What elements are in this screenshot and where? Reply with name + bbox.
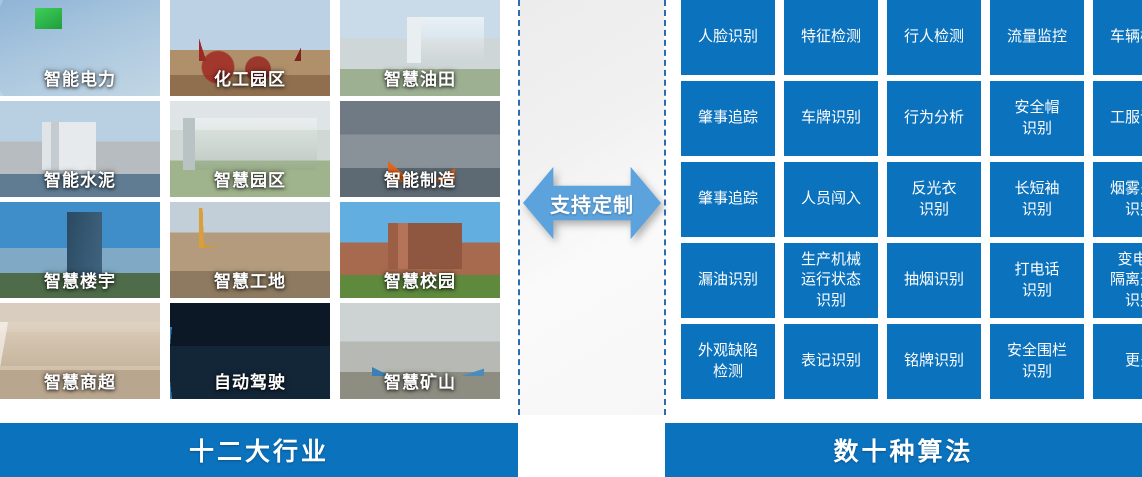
industry-tile-label: 智慧校园 — [340, 273, 500, 292]
algorithm-cell[interactable]: 车辆检测 — [1093, 0, 1142, 75]
industry-tile-label: 智能制造 — [340, 172, 500, 191]
center-panel: 支持定制 — [520, 0, 664, 415]
algorithm-cell[interactable]: 人员闯入 — [784, 162, 878, 237]
algorithm-cell[interactable]: 表记识别 — [784, 324, 878, 399]
industry-tile[interactable]: 智慧矿山 — [340, 303, 500, 399]
algorithm-cell[interactable]: 人脸识别 — [681, 0, 775, 75]
industry-tile-label: 自动驾驶 — [170, 374, 330, 393]
algorithm-cell[interactable]: 安全帽 识别 — [990, 81, 1084, 156]
industry-tile[interactable]: 智慧商超 — [0, 303, 160, 399]
industry-tile-label: 智慧商超 — [0, 374, 160, 393]
industry-tile[interactable]: 自动驾驶 — [170, 303, 330, 399]
industry-tile-label: 智能水泥 — [0, 172, 160, 191]
industry-tile-label: 智慧园区 — [170, 172, 330, 191]
algorithm-cell[interactable]: 反光衣 识别 — [887, 162, 981, 237]
algorithm-cell[interactable]: 工服识别 — [1093, 81, 1142, 156]
industry-tile-label: 智慧楼宇 — [0, 273, 160, 292]
algorithm-cell[interactable]: 安全围栏 识别 — [990, 324, 1084, 399]
industry-tile-label: 智慧工地 — [170, 273, 330, 292]
industry-tile[interactable]: 智慧校园 — [340, 202, 500, 298]
industries-banner: 十二大行业 — [0, 423, 518, 477]
industry-tile[interactable]: 智能水泥 — [0, 101, 160, 197]
algorithm-cell[interactable]: 生产机械 运行状态 识别 — [784, 243, 878, 318]
algorithm-cell[interactable]: 外观缺陷 检测 — [681, 324, 775, 399]
algorithm-cell[interactable]: 行为分析 — [887, 81, 981, 156]
algorithm-cell[interactable]: 肇事追踪 — [681, 162, 775, 237]
algorithm-cell[interactable]: 烟雾火焰 识别 — [1093, 162, 1142, 237]
divider-dashed-right — [664, 0, 666, 415]
algorithm-cell[interactable]: 漏油识别 — [681, 243, 775, 318]
industry-tile[interactable]: 化工园区 — [170, 0, 330, 96]
algorithms-banner: 数十种算法 — [665, 423, 1142, 477]
infographic-root: 智能电力 化工园区 智慧油田 智能水泥 智慧园区 智能制造 — [0, 0, 1142, 477]
arrow-label: 支持定制 — [550, 189, 634, 218]
algorithm-cell[interactable]: 打电话 识别 — [990, 243, 1084, 318]
industry-tile-label: 智慧油田 — [340, 71, 500, 90]
arrow-shape: 支持定制 — [523, 160, 661, 246]
algorithm-cell[interactable]: 长短袖 识别 — [990, 162, 1084, 237]
double-headed-arrow-icon: 支持定制 — [523, 160, 661, 246]
algorithm-cell[interactable]: 流量监控 — [990, 0, 1084, 75]
algorithm-panel: 人脸识别 特征检测 行人检测 流量监控 车辆检测 肇事追踪 车牌识别 行为分析 … — [681, 0, 1142, 415]
industry-tile[interactable]: 智慧工地 — [170, 202, 330, 298]
industry-tile[interactable]: 智慧油田 — [340, 0, 500, 96]
industry-tile[interactable]: 智能制造 — [340, 101, 500, 197]
algorithm-cell[interactable]: 变电站 隔离开关 识别 — [1093, 243, 1142, 318]
industry-tile[interactable]: 智慧楼宇 — [0, 202, 160, 298]
industry-tile[interactable]: 智慧园区 — [170, 101, 330, 197]
industry-tile[interactable]: 智能电力 — [0, 0, 160, 96]
divider-dashed-left — [518, 0, 520, 415]
algorithm-cell[interactable]: 肇事追踪 — [681, 81, 775, 156]
algorithm-cell[interactable]: 抽烟识别 — [887, 243, 981, 318]
algorithm-cell[interactable]: 铭牌识别 — [887, 324, 981, 399]
algorithm-grid: 人脸识别 特征检测 行人检测 流量监控 车辆检测 肇事追踪 车牌识别 行为分析 … — [681, 0, 1142, 399]
algorithm-cell[interactable]: 车牌识别 — [784, 81, 878, 156]
industry-tile-label: 化工园区 — [170, 71, 330, 90]
industry-tile-label: 智慧矿山 — [340, 374, 500, 393]
industry-panel: 智能电力 化工园区 智慧油田 智能水泥 智慧园区 智能制造 — [0, 0, 505, 415]
industry-grid: 智能电力 化工园区 智慧油田 智能水泥 智慧园区 智能制造 — [0, 0, 505, 399]
algorithm-cell[interactable]: 行人检测 — [887, 0, 981, 75]
industry-tile-label: 智能电力 — [0, 71, 160, 90]
algorithm-cell[interactable]: 特征检测 — [784, 0, 878, 75]
algorithm-cell-more[interactable]: 更多 — [1093, 324, 1142, 399]
